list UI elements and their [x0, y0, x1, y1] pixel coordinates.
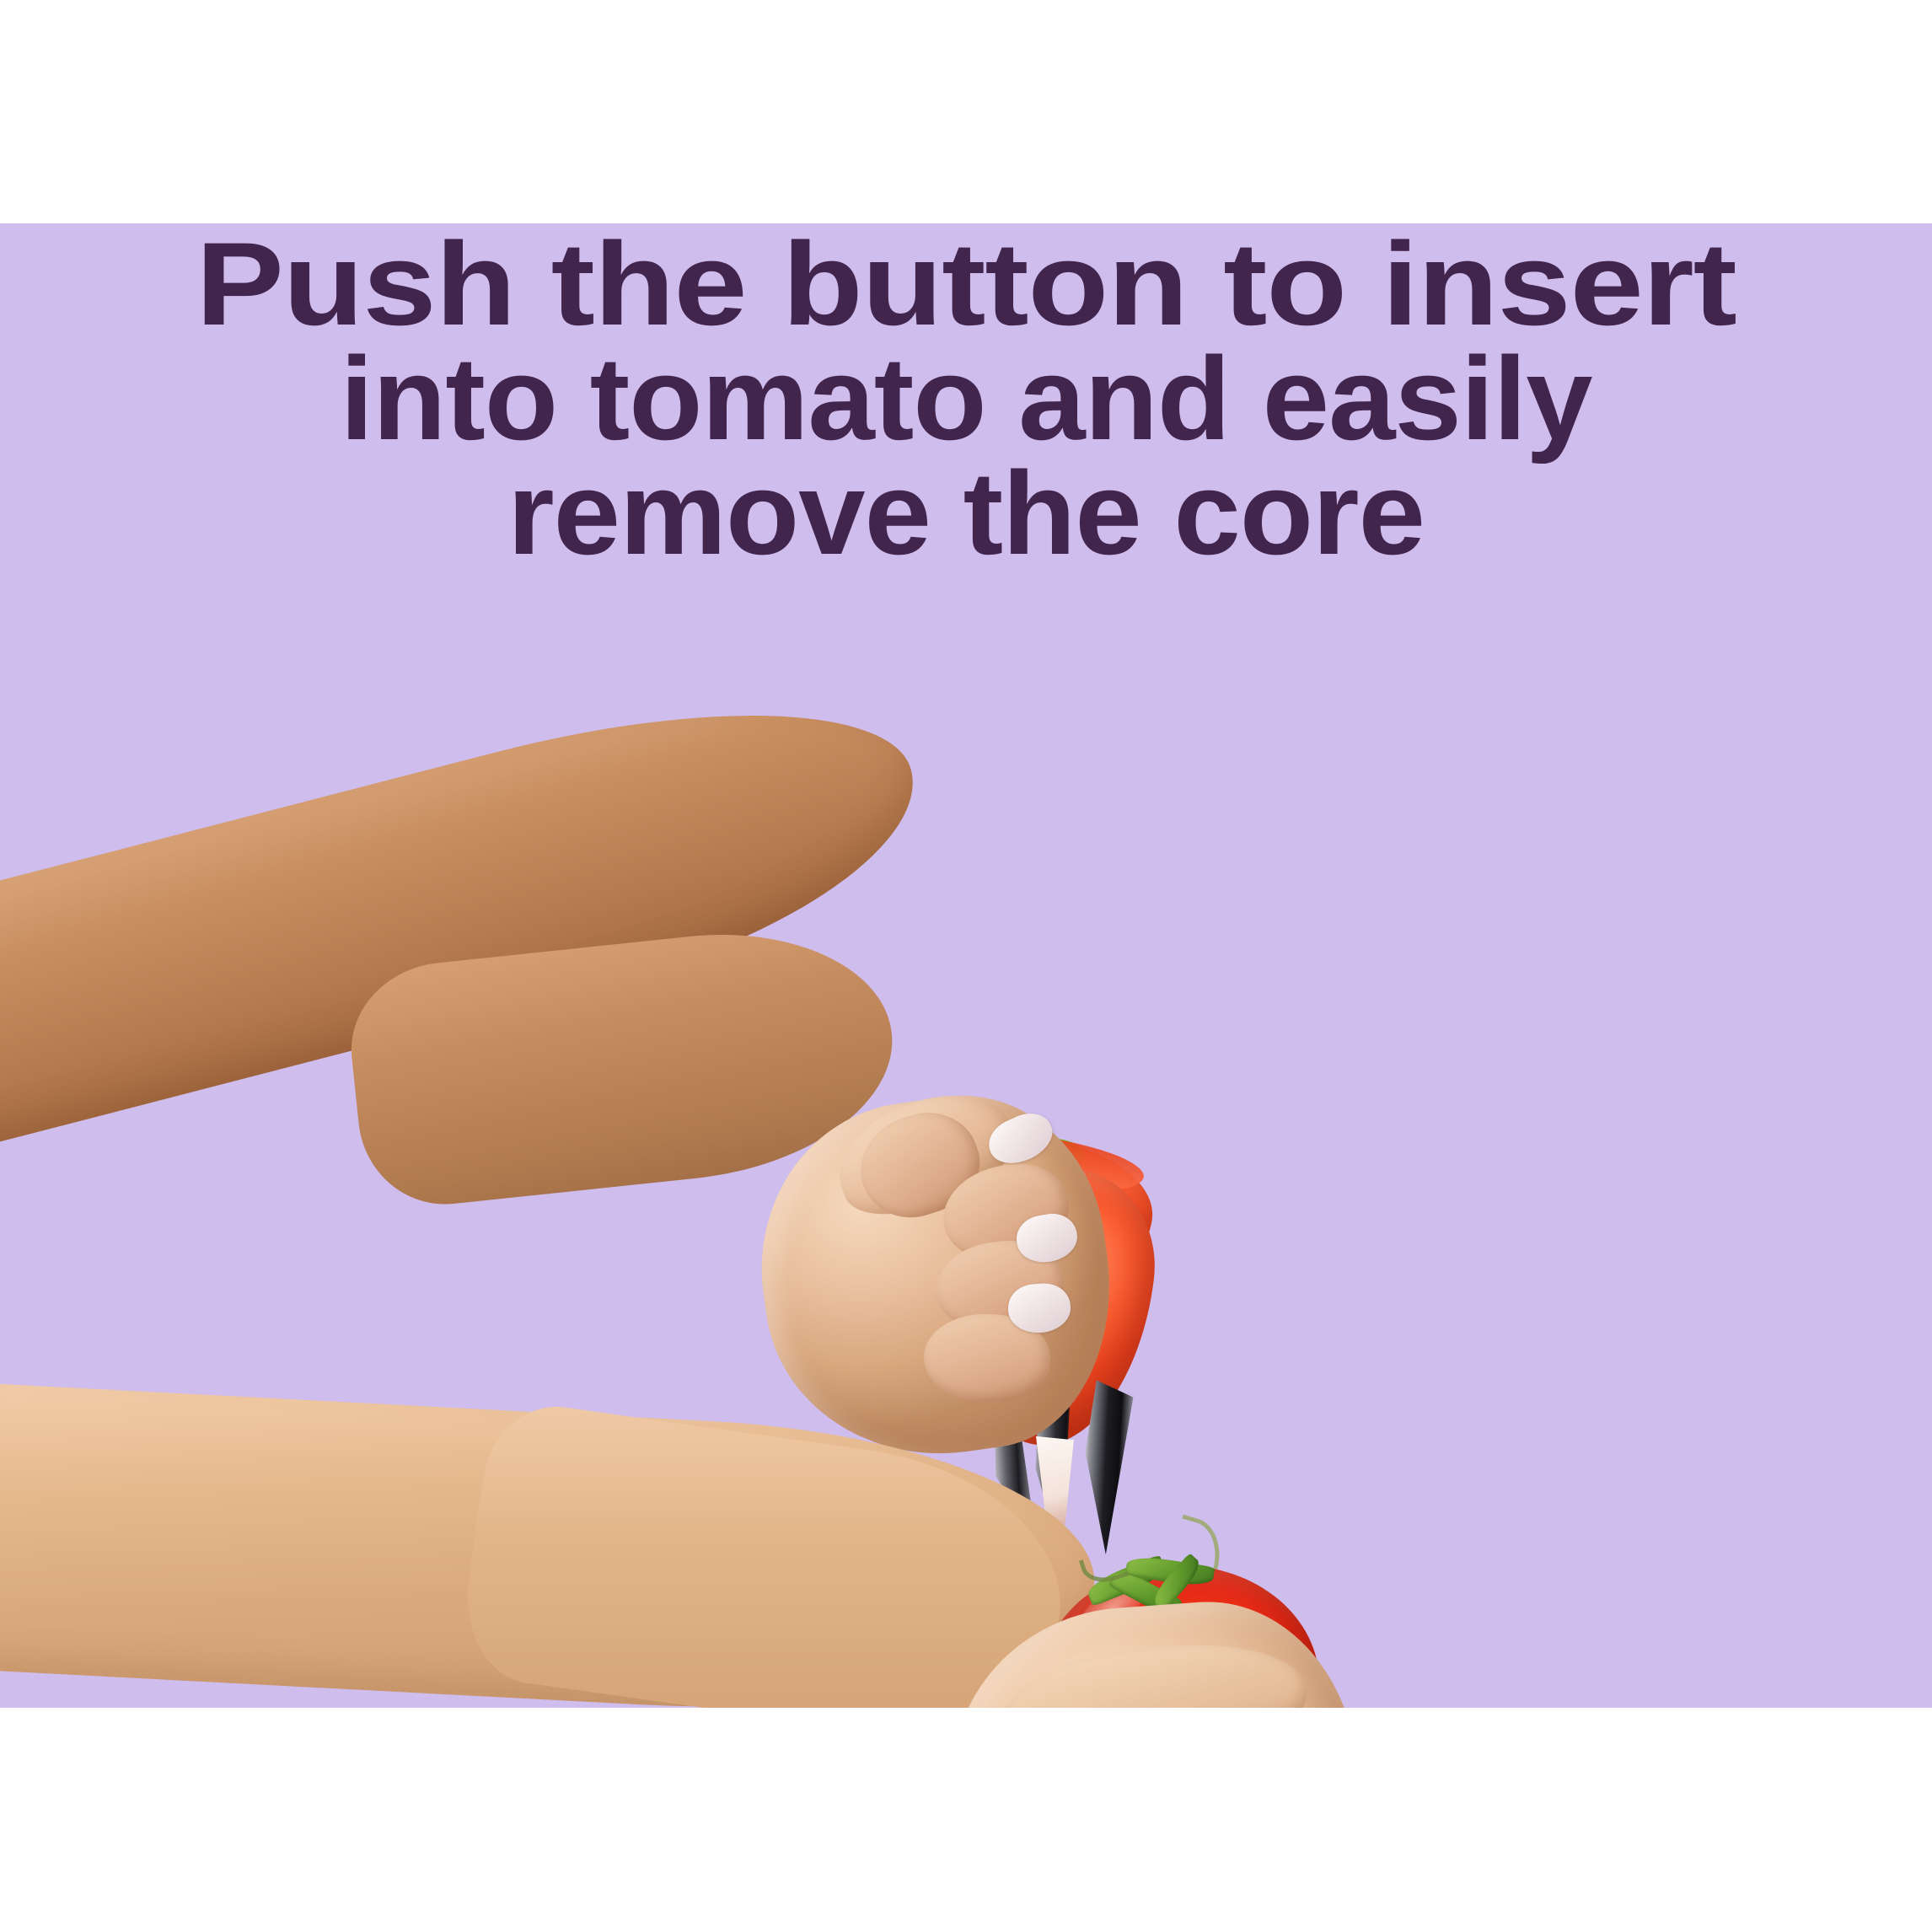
lavender-banner: Push the button to insert into tomato an… — [0, 223, 1932, 1708]
product-instruction-image: Push the button to insert into tomato an… — [0, 0, 1932, 1932]
product-photo — [0, 223, 1932, 1708]
